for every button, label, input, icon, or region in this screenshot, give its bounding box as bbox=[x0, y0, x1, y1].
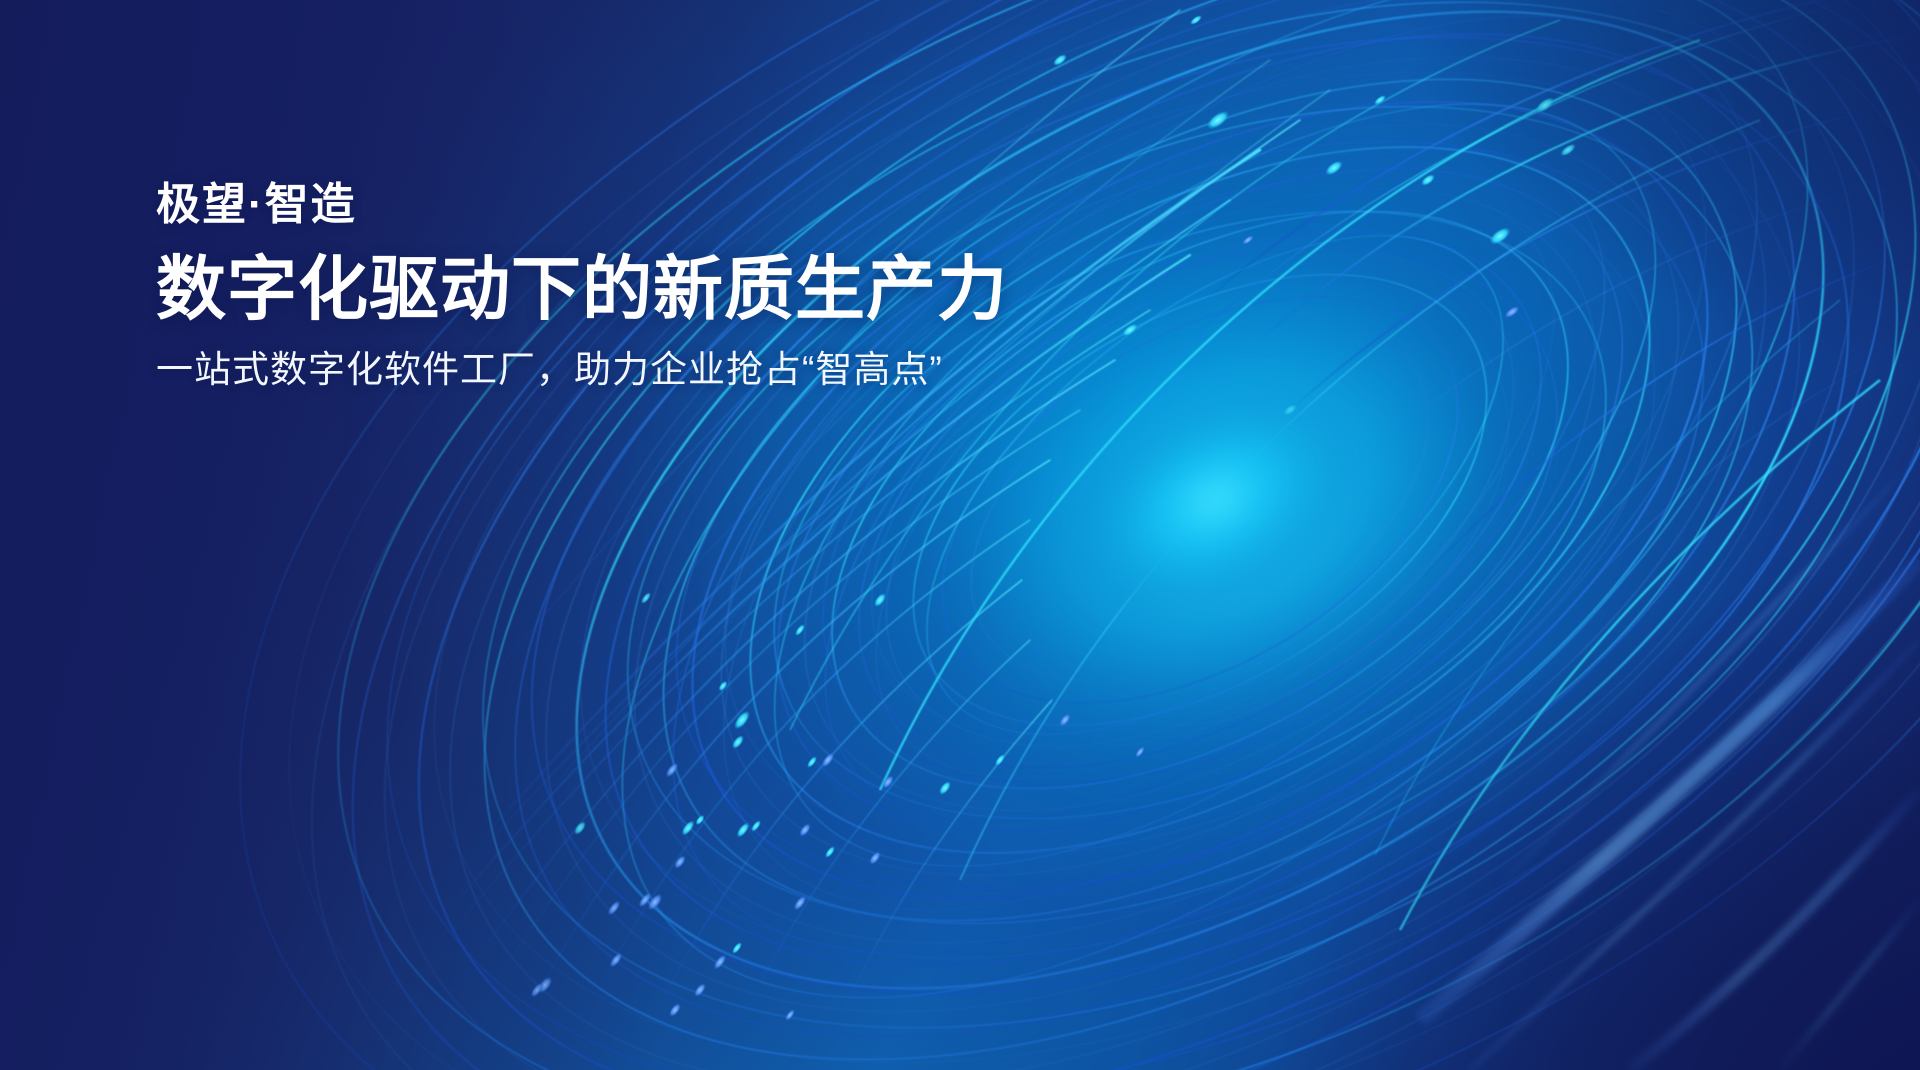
hero-copy-block: 极望·智造 数字化驱动下的新质生产力 一站式数字化软件工厂，助力企业抢占“智高点… bbox=[156, 178, 1056, 394]
hero-banner: 极望·智造 数字化驱动下的新质生产力 一站式数字化软件工厂，助力企业抢占“智高点… bbox=[0, 0, 1920, 1070]
brand-eyebrow: 极望·智造 bbox=[156, 178, 1056, 232]
page-title: 数字化驱动下的新质生产力 bbox=[156, 250, 1056, 328]
background-gradient bbox=[0, 0, 1920, 1070]
hero-tagline: 一站式数字化软件工厂，助力企业抢占“智高点” bbox=[156, 346, 1056, 394]
